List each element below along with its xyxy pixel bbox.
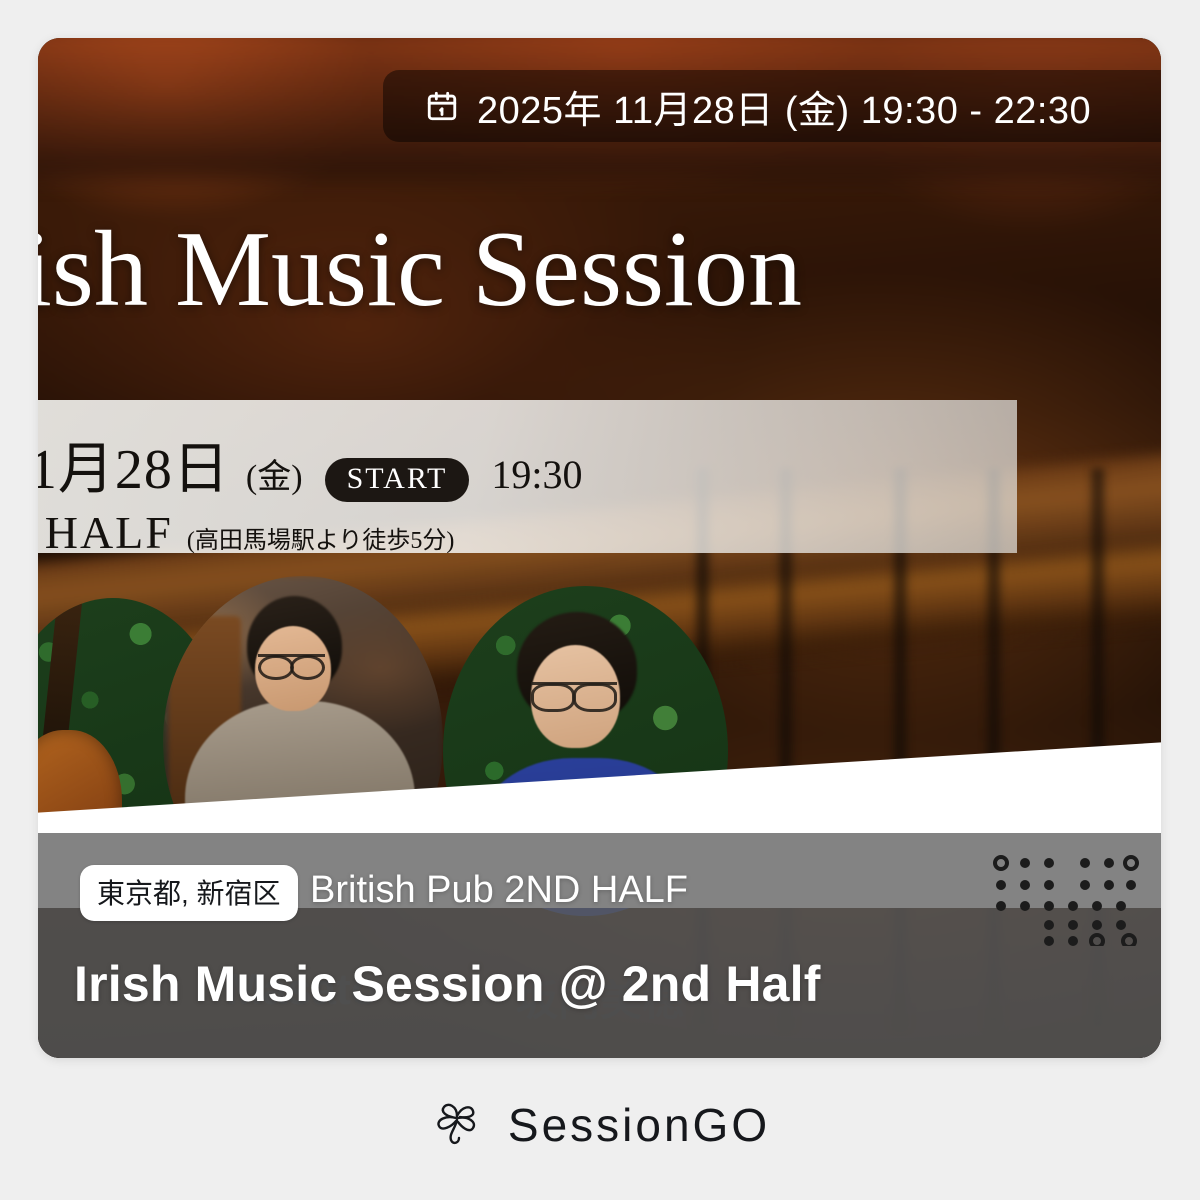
date-badge-text: 2025年 11月28日 (金) 19:30 - 22:30: [477, 79, 1091, 134]
poster-overlay: Irish Music Session 11月28日 (金) START 19:…: [38, 188, 1017, 553]
poster-start-chip: START: [325, 458, 470, 502]
calendar-icon: [425, 89, 459, 123]
glasses-icon: [531, 682, 617, 708]
footer-brand: SessionGO: [0, 1085, 1200, 1165]
poster-date-row: 11月28日 (金) START 19:30: [38, 424, 583, 505]
dot-grid-decoration: [989, 851, 1139, 946]
page-root: Irish Music Session 11月28日 (金) START 19:…: [0, 0, 1200, 1200]
poster-day-of-week: (金): [246, 449, 303, 498]
location-badge[interactable]: 東京都, 新宿区: [80, 865, 298, 921]
poster-venue: D HALF: [38, 506, 173, 553]
event-title: Irish Music Session @ 2nd Half: [74, 955, 821, 1013]
brand-name: SessionGO: [508, 1098, 770, 1152]
glasses-icon: [258, 654, 325, 677]
info-bar: 東京都, 新宿区 British Pub 2ND HALF Irish Musi…: [38, 833, 1161, 1058]
poster-venue-row: D HALF (高田馬場駅より徒歩5分): [38, 506, 454, 553]
event-card[interactable]: Irish Music Session 11月28日 (金) START 19:…: [38, 38, 1161, 1058]
venue-name: British Pub 2ND HALF: [310, 869, 688, 912]
date-badge: 2025年 11月28日 (金) 19:30 - 22:30: [383, 70, 1161, 142]
clover-icon: [430, 1096, 486, 1154]
poster-title: Irish Music Session: [38, 216, 802, 324]
poster-start-time: 19:30: [491, 451, 582, 498]
poster-access: (高田馬場駅より徒歩5分): [187, 520, 455, 553]
poster-date: 11月28日: [38, 424, 230, 505]
